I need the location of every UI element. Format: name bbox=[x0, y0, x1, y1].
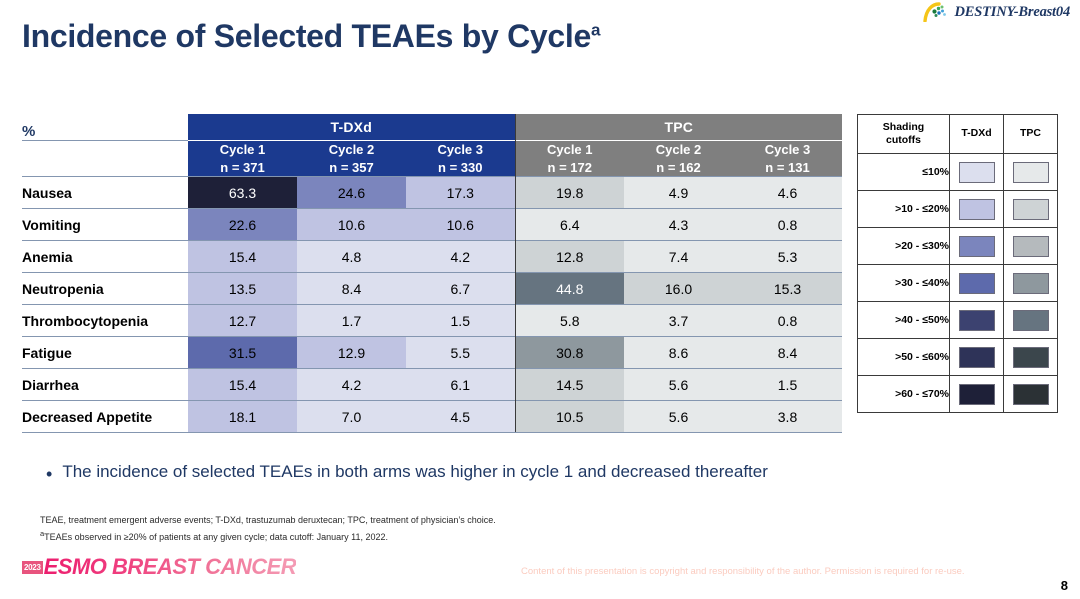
legend-range-label: ≤10% bbox=[858, 154, 950, 191]
legend-row: >20 - ≤30% bbox=[858, 228, 1058, 265]
data-cell: 4.6 bbox=[733, 177, 842, 209]
table-header-cycle-row: Cycle 1 n = 371 Cycle 2 n = 357 Cycle 3 … bbox=[22, 141, 842, 177]
legend-swatch-tdxd-cell bbox=[950, 228, 1004, 265]
row-label: Thrombocytopenia bbox=[22, 305, 188, 337]
legend-title-line2: cutoffs bbox=[886, 134, 921, 146]
legend-swatch-tpc-cell bbox=[1004, 265, 1058, 302]
esmo-logo: 2023 ESMO BREAST CANCER bbox=[22, 554, 296, 580]
data-cell: 1.5 bbox=[406, 305, 515, 337]
legend-range-label: >30 - ≤40% bbox=[858, 265, 950, 302]
legend-swatch-tdxd bbox=[959, 347, 995, 368]
row-label: Fatigue bbox=[22, 337, 188, 369]
column-header-tpc-cycle2: Cycle 2 n = 162 bbox=[624, 141, 733, 177]
legend-swatch-tpc bbox=[1013, 273, 1049, 294]
legend-swatch-tdxd bbox=[959, 310, 995, 331]
data-cell: 4.8 bbox=[297, 241, 406, 273]
row-label: Nausea bbox=[22, 177, 188, 209]
column-header-tdxd-cycle2: Cycle 2 n = 357 bbox=[297, 141, 406, 177]
data-cell: 19.8 bbox=[515, 177, 624, 209]
table-row: Neutropenia13.58.46.744.816.015.3 bbox=[22, 273, 842, 305]
column-header-tdxd-cycle3: Cycle 3 n = 330 bbox=[406, 141, 515, 177]
legend-row: >40 - ≤50% bbox=[858, 302, 1058, 339]
data-cell: 0.8 bbox=[733, 209, 842, 241]
footnote-methods: aTEAEs observed in ≥20% of patients at a… bbox=[40, 528, 496, 545]
cycle-label: Cycle 2 bbox=[656, 142, 702, 157]
data-cell: 12.9 bbox=[297, 337, 406, 369]
row-label: Diarrhea bbox=[22, 369, 188, 401]
data-cell: 3.8 bbox=[733, 401, 842, 433]
data-cell: 17.3 bbox=[406, 177, 515, 209]
legend-swatch-tpc bbox=[1013, 384, 1049, 405]
legend-swatch-tpc bbox=[1013, 310, 1049, 331]
table-row: Decreased Appetite18.17.04.510.55.63.8 bbox=[22, 401, 842, 433]
cycle-n: n = 371 bbox=[188, 159, 297, 177]
table-header: % T-DXd TPC Cycle 1 n = 371 Cycle 2 n = … bbox=[22, 114, 842, 177]
legend-swatch-tdxd-cell bbox=[950, 265, 1004, 302]
legend-title-line1: Shading bbox=[883, 121, 924, 133]
bullet-marker: • bbox=[46, 462, 52, 483]
legend-swatch-tpc bbox=[1013, 347, 1049, 368]
legend-swatch-tpc bbox=[1013, 199, 1049, 220]
cycle-label: Cycle 1 bbox=[547, 142, 593, 157]
legend-swatch-tpc-cell bbox=[1004, 302, 1058, 339]
data-cell: 4.5 bbox=[406, 401, 515, 433]
legend-range-label: >10 - ≤20% bbox=[858, 191, 950, 228]
legend-swatch-tdxd bbox=[959, 236, 995, 257]
legend-swatch-tpc-cell bbox=[1004, 228, 1058, 265]
data-cell: 0.8 bbox=[733, 305, 842, 337]
destiny-swoosh-icon bbox=[923, 2, 949, 22]
table-row: Fatigue31.512.95.530.88.68.4 bbox=[22, 337, 842, 369]
cycle-label: Cycle 3 bbox=[437, 142, 483, 157]
data-cell: 14.5 bbox=[515, 369, 624, 401]
legend-swatch-tpc-cell bbox=[1004, 191, 1058, 228]
page-title-superscript: a bbox=[591, 20, 600, 39]
data-cell: 15.3 bbox=[733, 273, 842, 305]
data-cell: 7.0 bbox=[297, 401, 406, 433]
legend-swatch-tdxd-cell bbox=[950, 339, 1004, 376]
legend-swatch-tdxd-cell bbox=[950, 302, 1004, 339]
study-logo-label: DESTINY-Breast04 bbox=[954, 4, 1070, 21]
legend-header: Shading cutoffs T-DXd TPC bbox=[858, 115, 1058, 154]
legend-swatch-tdxd-cell bbox=[950, 376, 1004, 413]
legend-swatch-tdxd bbox=[959, 162, 995, 183]
data-cell: 1.5 bbox=[733, 369, 842, 401]
footnotes: TEAE, treatment emergent adverse events;… bbox=[40, 514, 496, 545]
study-logo: DESTINY-Breast04 bbox=[923, 2, 1070, 22]
legend-swatch-tpc bbox=[1013, 162, 1049, 183]
esmo-logo-year: 2023 bbox=[22, 561, 43, 574]
table-row: Nausea63.324.617.319.84.94.6 bbox=[22, 177, 842, 209]
legend-row: >60 - ≤70% bbox=[858, 376, 1058, 413]
data-cell: 12.8 bbox=[515, 241, 624, 273]
cycle-label: Cycle 3 bbox=[765, 142, 811, 157]
cycle-n: n = 162 bbox=[624, 159, 733, 177]
data-cell: 5.8 bbox=[515, 305, 624, 337]
legend-swatch-tdxd bbox=[959, 384, 995, 405]
legend-swatch-tpc-cell bbox=[1004, 154, 1058, 191]
legend-swatch-tpc bbox=[1013, 236, 1049, 257]
arm-header-tpc: TPC bbox=[515, 114, 842, 141]
legend-swatch-tdxd bbox=[959, 199, 995, 220]
data-cell: 7.4 bbox=[624, 241, 733, 273]
cycle-n: n = 172 bbox=[516, 159, 625, 177]
table-header-arm-row: % T-DXd TPC bbox=[22, 114, 842, 141]
legend-range-label: >50 - ≤60% bbox=[858, 339, 950, 376]
data-cell: 3.7 bbox=[624, 305, 733, 337]
data-cell: 5.5 bbox=[406, 337, 515, 369]
cycle-n: n = 330 bbox=[406, 159, 515, 177]
data-cell: 5.6 bbox=[624, 369, 733, 401]
legend-swatch-tdxd-cell bbox=[950, 154, 1004, 191]
legend-row: >10 - ≤20% bbox=[858, 191, 1058, 228]
header-spacer bbox=[22, 141, 188, 177]
cycle-n: n = 357 bbox=[297, 159, 406, 177]
data-cell: 10.6 bbox=[406, 209, 515, 241]
data-cell: 22.6 bbox=[188, 209, 297, 241]
arm-header-tdxd: T-DXd bbox=[188, 114, 515, 141]
footnote-methods-text: TEAEs observed in ≥20% of patients at an… bbox=[44, 532, 388, 542]
data-cell: 5.6 bbox=[624, 401, 733, 433]
row-label: Decreased Appetite bbox=[22, 401, 188, 433]
legend-range-label: >20 - ≤30% bbox=[858, 228, 950, 265]
column-header-tpc-cycle1: Cycle 1 n = 172 bbox=[515, 141, 624, 177]
footnote-abbreviations: TEAE, treatment emergent adverse events;… bbox=[40, 514, 496, 528]
data-cell: 16.0 bbox=[624, 273, 733, 305]
row-label: Neutropenia bbox=[22, 273, 188, 305]
data-cell: 12.7 bbox=[188, 305, 297, 337]
page-number: 8 bbox=[1061, 578, 1068, 593]
data-cell: 5.3 bbox=[733, 241, 842, 273]
legend-arm-header-tpc: TPC bbox=[1004, 115, 1058, 154]
data-cell: 13.5 bbox=[188, 273, 297, 305]
page-title: Incidence of Selected TEAEs by Cyclea bbox=[22, 18, 600, 55]
data-cell: 1.7 bbox=[297, 305, 406, 337]
legend-arm-header-tdxd: T-DXd bbox=[950, 115, 1004, 154]
table-row: Diarrhea15.44.26.114.55.61.5 bbox=[22, 369, 842, 401]
legend-swatch-tdxd bbox=[959, 273, 995, 294]
data-cell: 31.5 bbox=[188, 337, 297, 369]
data-cell: 6.4 bbox=[515, 209, 624, 241]
data-cell: 4.9 bbox=[624, 177, 733, 209]
table-body: Nausea63.324.617.319.84.94.6Vomiting22.6… bbox=[22, 177, 842, 433]
data-cell: 8.4 bbox=[297, 273, 406, 305]
table-row: Thrombocytopenia12.71.71.55.83.70.8 bbox=[22, 305, 842, 337]
row-label: Vomiting bbox=[22, 209, 188, 241]
data-cell: 4.3 bbox=[624, 209, 733, 241]
data-cell: 10.6 bbox=[297, 209, 406, 241]
column-header-tdxd-cycle1: Cycle 1 n = 371 bbox=[188, 141, 297, 177]
data-cell: 24.6 bbox=[297, 177, 406, 209]
data-cell: 8.4 bbox=[733, 337, 842, 369]
bullet-text: The incidence of selected TEAEs in both … bbox=[62, 462, 768, 482]
data-cell: 6.1 bbox=[406, 369, 515, 401]
cycle-label: Cycle 2 bbox=[329, 142, 375, 157]
legend-body: ≤10%>10 - ≤20%>20 - ≤30%>30 - ≤40%>40 - … bbox=[858, 154, 1058, 413]
teae-incidence-table: % T-DXd TPC Cycle 1 n = 371 Cycle 2 n = … bbox=[22, 114, 842, 433]
legend-row: ≤10% bbox=[858, 154, 1058, 191]
table-row: Anemia15.44.84.212.87.45.3 bbox=[22, 241, 842, 273]
legend-swatch-tpc-cell bbox=[1004, 376, 1058, 413]
table-row: Vomiting22.610.610.66.44.30.8 bbox=[22, 209, 842, 241]
esmo-logo-name: ESMO BREAST CANCER bbox=[43, 554, 297, 580]
column-header-tpc-cycle3: Cycle 3 n = 131 bbox=[733, 141, 842, 177]
legend-swatch-tdxd-cell bbox=[950, 191, 1004, 228]
data-cell: 15.4 bbox=[188, 241, 297, 273]
cycle-label: Cycle 1 bbox=[220, 142, 266, 157]
data-cell: 4.2 bbox=[406, 241, 515, 273]
data-cell: 63.3 bbox=[188, 177, 297, 209]
data-cell: 18.1 bbox=[188, 401, 297, 433]
legend-row: >30 - ≤40% bbox=[858, 265, 1058, 302]
data-cell: 30.8 bbox=[515, 337, 624, 369]
key-finding-bullet: • The incidence of selected TEAEs in bot… bbox=[46, 462, 768, 483]
data-cell: 15.4 bbox=[188, 369, 297, 401]
shading-cutoffs-legend: Shading cutoffs T-DXd TPC ≤10%>10 - ≤20%… bbox=[857, 114, 1058, 413]
legend-range-label: >40 - ≤50% bbox=[858, 302, 950, 339]
data-cell: 8.6 bbox=[624, 337, 733, 369]
legend-title: Shading cutoffs bbox=[858, 115, 950, 154]
legend-range-label: >60 - ≤70% bbox=[858, 376, 950, 413]
percent-label: % bbox=[22, 114, 188, 141]
row-label: Anemia bbox=[22, 241, 188, 273]
copyright-notice: Content of this presentation is copyrigh… bbox=[521, 566, 965, 577]
page-title-text: Incidence of Selected TEAEs by Cycle bbox=[22, 18, 591, 54]
cycle-n: n = 131 bbox=[733, 159, 842, 177]
data-cell: 10.5 bbox=[515, 401, 624, 433]
legend-swatch-tpc-cell bbox=[1004, 339, 1058, 376]
data-cell: 6.7 bbox=[406, 273, 515, 305]
legend-row: >50 - ≤60% bbox=[858, 339, 1058, 376]
data-cell: 4.2 bbox=[297, 369, 406, 401]
data-cell: 44.8 bbox=[515, 273, 624, 305]
